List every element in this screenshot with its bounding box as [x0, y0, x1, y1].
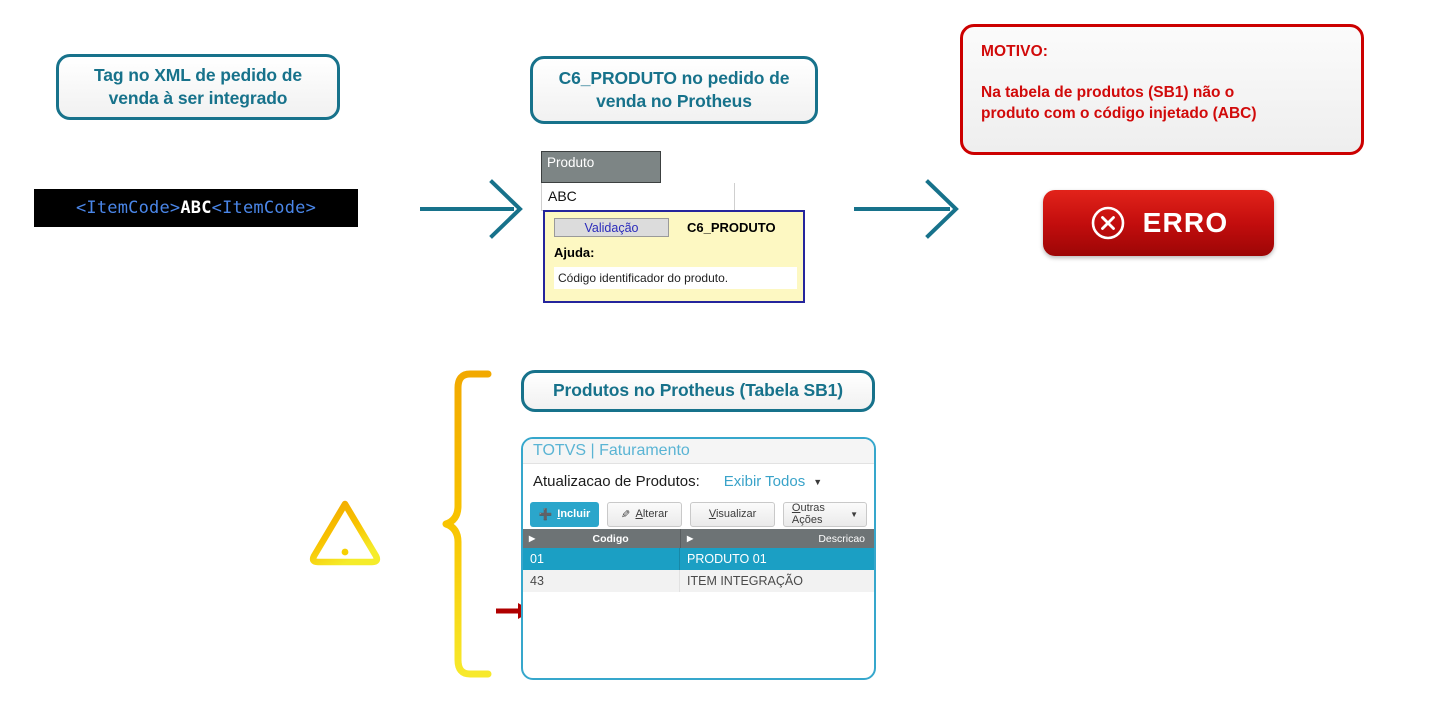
totvs-titlebar: TOTVS | Faturamento [523, 439, 874, 464]
incluir-label-rest: ncluir [560, 508, 590, 520]
field-help-tooltip: Validação C6_PRODUTO Ajuda: Código ident… [543, 210, 805, 303]
incluir-button[interactable]: ➕ Incluir [530, 502, 599, 527]
cell-codigo: 01 [523, 548, 680, 570]
filter-dropdown-label[interactable]: Exibir Todos [724, 473, 805, 490]
visualizar-accel: V [709, 508, 716, 520]
routine-label: Atualizacao de Produtos: [533, 473, 700, 490]
motivo-line2-bold: (ABC) [1213, 105, 1257, 122]
xml-open-tag: <ItemCode> [76, 198, 180, 218]
error-badge: ERRO [1043, 190, 1274, 256]
motivo-line2-part1: produto com o código injetado [981, 105, 1213, 122]
cell-descricao: PRODUTO 01 [680, 548, 874, 570]
alterar-label-rest: lterar [643, 508, 668, 520]
alterar-accel: A [635, 508, 642, 520]
outras-acoes-button[interactable]: Outras Ações ▼ [783, 502, 867, 527]
visualizar-label-rest: isualizar [716, 508, 756, 520]
xml-code-snippet: <ItemCode>ABC<ItemCode> [34, 189, 358, 227]
plus-icon: ➕ [539, 508, 553, 521]
callout-produtos-sb1: Produtos no Protheus (Tabela SB1) [521, 370, 875, 412]
totvs-toolbar: ➕ Incluir ✎ Alterar Visualizar Outras Aç… [523, 499, 874, 529]
grid-column-codigo-label: Codigo [541, 533, 680, 545]
xml-value: ABC [180, 198, 211, 218]
produto-input-value[interactable]: ABC [541, 183, 735, 211]
grid-header-row: ▶ Codigo ▶ Descricao [523, 529, 874, 548]
grid-column-descricao-label: Descricao [699, 533, 874, 545]
validacao-button[interactable]: Validação [554, 218, 669, 237]
motivo-line1-part1: Na tabela de produtos [981, 84, 1148, 101]
column-sort-caret-icon[interactable]: ▶ [523, 534, 541, 543]
totvs-routine-bar: Atualizacao de Produtos: Exibir Todos ▼ [523, 464, 874, 499]
ajuda-text: Código identificador do produto. [554, 267, 797, 289]
tooltip-header-row: Validação C6_PRODUTO [545, 212, 803, 237]
motivo-line1-bold: (SB1) [1148, 84, 1188, 101]
produto-column-header: Produto [541, 151, 661, 183]
warning-triangle-icon [306, 496, 384, 568]
callout-c6-produto: C6_PRODUTO no pedido de venda no Protheu… [530, 56, 818, 124]
cell-descricao: ITEM INTEGRAÇÃO [680, 570, 874, 592]
error-badge-label: ERRO [1143, 207, 1229, 239]
grid-column-descricao[interactable]: ▶ Descricao [681, 529, 874, 548]
grouping-brace [440, 368, 500, 680]
motivo-line1-part2: não o [1189, 84, 1235, 101]
cell-codigo: 43 [523, 570, 680, 592]
alterar-button[interactable]: ✎ Alterar [607, 502, 682, 527]
visualizar-button[interactable]: Visualizar [690, 502, 775, 527]
flow-arrow-1 [418, 178, 538, 240]
ajuda-label: Ajuda: [545, 237, 803, 260]
column-sort-caret-icon-2[interactable]: ▶ [681, 534, 699, 543]
circle-x-icon [1089, 204, 1127, 242]
motivo-text: Na tabela de produtos (SB1) não o produt… [981, 82, 1343, 124]
motivo-box: MOTIVO: Na tabela de produtos (SB1) não … [960, 24, 1364, 155]
grid-column-codigo[interactable]: ▶ Codigo [523, 529, 681, 548]
totvs-window: TOTVS | Faturamento Atualizacao de Produ… [521, 437, 876, 680]
chevron-down-icon[interactable]: ▼ [813, 477, 822, 487]
pencil-icon: ✎ [621, 508, 630, 521]
table-row[interactable]: 43 ITEM INTEGRAÇÃO [523, 570, 874, 592]
table-row[interactable]: 01 PRODUTO 01 [523, 548, 874, 570]
flow-arrow-2 [852, 178, 977, 240]
xml-close-tag: <ItemCode> [212, 198, 316, 218]
motivo-title: MOTIVO: [981, 43, 1343, 61]
field-name-label: C6_PRODUTO [687, 220, 776, 235]
callout-xml-tag: Tag no XML de pedido de venda à ser inte… [56, 54, 340, 120]
caret-down-icon: ▼ [850, 510, 858, 519]
